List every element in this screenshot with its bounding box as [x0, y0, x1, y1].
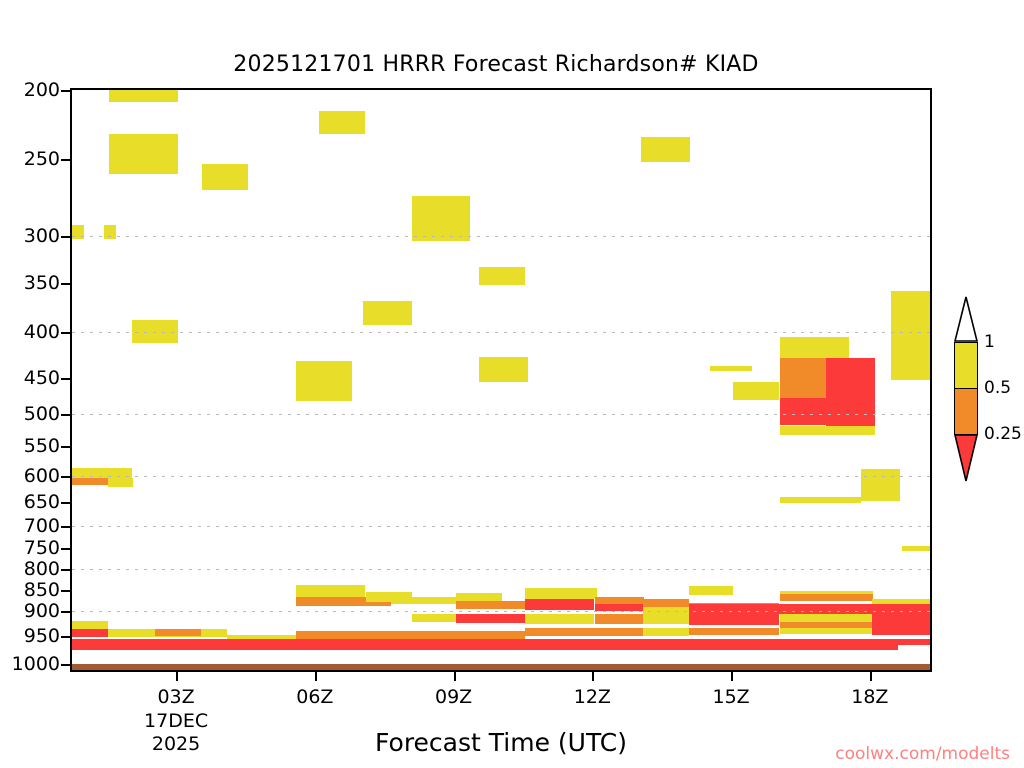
watermark: coolwx.com/modelts [835, 744, 1010, 764]
heatmap-cell [391, 597, 456, 604]
pressure-axis: 2002503003504004505005506006507007508008… [0, 88, 70, 672]
heatmap-cell [689, 628, 779, 635]
pressure-tick-mark [61, 414, 70, 416]
pressure-tick-mark [61, 502, 70, 504]
heatmap-cell [861, 469, 900, 501]
pressure-tick-mark [61, 611, 70, 613]
pressure-tick-mark [61, 664, 70, 666]
page-title: 2025121701 HRRR Forecast Richardson# KIA… [0, 52, 1008, 77]
heatmap-cell [72, 643, 296, 650]
heatmap-cell [132, 320, 178, 343]
heatmap-cell [780, 337, 849, 358]
pressure-tick-label: 500 [24, 403, 60, 425]
colorbar-bottom-arrow [954, 434, 978, 482]
time-tick-label: 09Z [435, 686, 472, 708]
heatmap-cell [780, 628, 873, 634]
pressure-tick-label: 850 [24, 579, 60, 601]
colorbar-tick-label: 0.25 [984, 424, 1022, 444]
heatmap-cell [155, 629, 201, 636]
time-tick-label: 03Z [157, 686, 194, 708]
colorbar-tick-label: 1 [984, 332, 995, 352]
heatmap-cell [363, 301, 412, 325]
time-tick-mark [870, 672, 872, 681]
heatmap-cell [109, 88, 178, 102]
heatmap-cell [479, 267, 525, 285]
heatmap-cell [733, 382, 779, 400]
time-tick-mark [731, 672, 733, 681]
heatmap-cell [296, 585, 365, 597]
heatmap-cell [525, 599, 594, 610]
colorbar-tick-mark [954, 342, 978, 343]
pressure-tick-mark [61, 590, 70, 592]
heatmap-cell [780, 497, 861, 503]
heatmap-cell [902, 546, 930, 551]
time-tick-mark [454, 672, 456, 681]
heatmap-cell [780, 591, 873, 594]
heatmap-cell [872, 628, 930, 635]
pressure-tick-label: 200 [24, 79, 60, 101]
heatmap-cell [872, 614, 930, 628]
heatmap-cell [780, 593, 873, 601]
heatmap-cell [296, 631, 412, 639]
pressure-tick-label: 600 [24, 465, 60, 487]
time-tick-label: 06Z [296, 686, 333, 708]
pressure-tick-label: 800 [24, 558, 60, 580]
heatmap-cell [595, 604, 644, 611]
pressure-tick-label: 250 [24, 148, 60, 170]
colorbar-tick-label: 0.5 [984, 378, 1011, 398]
heatmap-cell [412, 196, 470, 241]
heatmap-cell [108, 478, 133, 487]
pressure-tick-label: 550 [24, 435, 60, 457]
heatmap-cell [525, 614, 594, 624]
heatmap-cell [72, 468, 132, 478]
pressure-tick-label: 1000 [12, 653, 60, 675]
heatmap-cell [456, 593, 502, 601]
colorbar-top-arrow [954, 296, 978, 342]
heatmap-cell [525, 628, 643, 636]
heatmap-cell [202, 164, 248, 190]
colorbar-segment [954, 342, 978, 388]
time-tick-label: 12Z [574, 686, 611, 708]
time-tick-mark [315, 672, 317, 681]
heatmap-cell [891, 291, 930, 380]
pressure-tick-mark [61, 283, 70, 285]
heatmap-cell [689, 614, 779, 625]
heatmap-cell [898, 645, 930, 652]
colorbar-tick-mark [954, 434, 978, 435]
time-tick-label: 15Z [713, 686, 750, 708]
heatmap-cell [456, 614, 525, 623]
heatmap-cell [689, 604, 930, 614]
pressure-tick-mark [61, 569, 70, 571]
heatmap-cell [479, 357, 528, 382]
colorbar-tick-mark [954, 388, 978, 389]
heatmap-cell [826, 358, 875, 427]
time-tick-label: 18Z [851, 686, 888, 708]
pressure-tick-mark [61, 378, 70, 380]
heatmap-cells [72, 90, 930, 670]
pressure-tick-mark [61, 636, 70, 638]
heatmap-cell [780, 426, 875, 435]
screenshot-root: 2025121701 HRRR Forecast Richardson# KIA… [0, 0, 1024, 768]
colorbar-legend: 10.50.25 [948, 296, 1024, 486]
colorbar-segment [954, 388, 978, 434]
ground-fill [72, 664, 930, 670]
heatmap-cell [780, 398, 826, 425]
pressure-tick-label: 900 [24, 600, 60, 622]
pressure-tick-label: 300 [24, 225, 60, 247]
heatmap-cell [641, 137, 690, 162]
heatmap-cell [412, 614, 456, 622]
heatmap-cell [643, 614, 689, 624]
heatmap-cell [296, 361, 352, 401]
pressure-tick-label: 400 [24, 321, 60, 343]
heatmap-cell [643, 599, 689, 607]
pressure-tick-label: 700 [24, 515, 60, 537]
pressure-tick-label: 650 [24, 491, 60, 513]
heatmap-cell [72, 225, 84, 239]
pressure-tick-mark [61, 90, 70, 92]
heatmap-cell [525, 588, 597, 599]
pressure-tick-label: 950 [24, 625, 60, 647]
heatmap-cell [780, 614, 873, 622]
sounding-heatmap-plot [70, 88, 932, 672]
pressure-tick-mark [61, 236, 70, 238]
heatmap-cell [710, 366, 752, 371]
heatmap-cell [595, 614, 644, 624]
pressure-tick-label: 350 [24, 272, 60, 294]
heatmap-cell [456, 601, 525, 609]
heatmap-cell [109, 134, 178, 174]
time-tick-mark [592, 672, 594, 681]
heatmap-cell [72, 629, 108, 637]
pressure-tick-label: 450 [24, 367, 60, 389]
x-axis-title: Forecast Time (UTC) [70, 728, 932, 757]
heatmap-cell [780, 358, 826, 398]
pressure-tick-mark [61, 446, 70, 448]
pressure-tick-label: 750 [24, 537, 60, 559]
pressure-tick-mark [61, 332, 70, 334]
time-tick-mark [176, 672, 178, 681]
heatmap-cell [72, 621, 108, 629]
heatmap-cell [643, 607, 689, 614]
heatmap-cell [689, 586, 733, 595]
pressure-tick-mark [61, 159, 70, 161]
heatmap-cell [319, 111, 365, 134]
pressure-tick-mark [61, 476, 70, 478]
pressure-tick-mark [61, 526, 70, 528]
heatmap-cell [412, 631, 525, 639]
pressure-tick-mark [61, 548, 70, 550]
heatmap-cell [72, 478, 108, 485]
heatmap-cell [643, 628, 689, 636]
heatmap-cell [104, 225, 116, 239]
